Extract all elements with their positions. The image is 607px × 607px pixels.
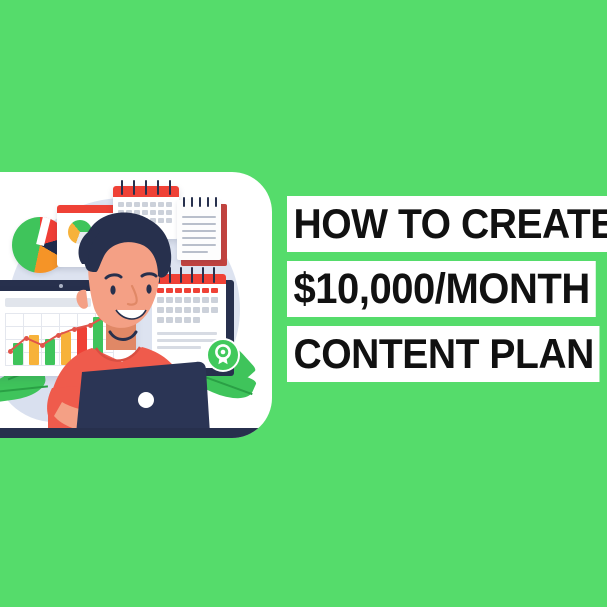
headline-line-2: $10,000/MONTH	[287, 261, 595, 317]
headline-line-1: HOW TO CREATE A	[287, 196, 607, 252]
ear	[76, 290, 88, 309]
headline-line-3: CONTENT PLAN	[287, 326, 599, 382]
eye	[146, 284, 151, 293]
desk-surface	[0, 428, 272, 438]
eye	[110, 285, 115, 294]
headline: HOW TO CREATE A $10,000/MONTH CONTENT PL…	[287, 196, 597, 391]
illustration-card	[0, 172, 272, 438]
poster-canvas: HOW TO CREATE A $10,000/MONTH CONTENT PL…	[0, 0, 607, 607]
person-at-laptop	[0, 172, 272, 438]
laptop-logo	[138, 392, 154, 408]
